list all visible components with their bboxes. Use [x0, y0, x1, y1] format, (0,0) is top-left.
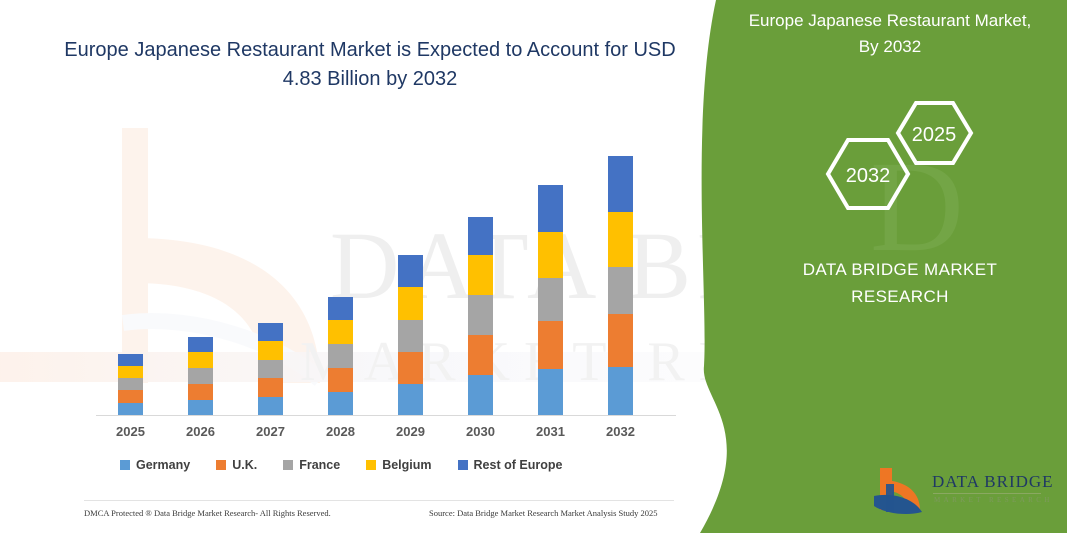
chart-legend: GermanyU.K.FranceBelgiumRest of Europe [120, 455, 680, 475]
bar-segment [328, 368, 353, 392]
bar-segment [258, 341, 283, 360]
hexagon-2032-label: 2032 [846, 165, 891, 187]
bar-segment [328, 320, 353, 344]
footer-divider [84, 500, 674, 501]
bar-segment [608, 212, 633, 267]
legend-swatch-icon [216, 460, 226, 470]
bar-segment [538, 185, 563, 232]
bar-segment [118, 378, 143, 390]
bar-segment [398, 352, 423, 384]
legend-item: Germany [120, 458, 190, 472]
bar-segment [188, 384, 213, 400]
x-label-2025: 2025 [101, 424, 161, 439]
bar-segment [188, 337, 213, 352]
logo-wordmark: DATA BRIDGE [932, 472, 1054, 492]
bar-segment [188, 368, 213, 384]
hexagon-group: 2025 2032 [820, 100, 1000, 215]
bar-segment [328, 392, 353, 416]
footer: DMCA Protected ® Data Bridge Market Rese… [84, 508, 684, 522]
bar-2028 [328, 297, 353, 416]
bar-segment [608, 367, 633, 416]
legend-label: Germany [136, 458, 190, 472]
bar-2030 [468, 217, 493, 416]
hexagon-2025-label: 2025 [912, 124, 957, 146]
legend-swatch-icon [366, 460, 376, 470]
bar-segment [258, 378, 283, 397]
stacked-bar-chart [96, 118, 676, 416]
bar-2031 [538, 185, 563, 416]
logo-mark-icon [872, 466, 928, 518]
bar-2027 [258, 323, 283, 416]
legend-item: Rest of Europe [458, 458, 563, 472]
legend-item: U.K. [216, 458, 257, 472]
bar-segment [398, 255, 423, 287]
bar-segment [328, 344, 353, 368]
x-label-2031: 2031 [521, 424, 581, 439]
legend-swatch-icon [458, 460, 468, 470]
bar-segment [468, 375, 493, 416]
x-axis-labels: 20252026202720282029203020312032 [96, 424, 676, 444]
bar-segment [608, 156, 633, 212]
bar-segment [188, 352, 213, 368]
bar-segment [468, 217, 493, 255]
legend-item: France [283, 458, 340, 472]
bar-segment [468, 295, 493, 335]
bar-segment [608, 267, 633, 314]
logo-divider [933, 493, 1041, 494]
footer-source: Source: Data Bridge Market Research Mark… [429, 508, 658, 518]
legend-label: U.K. [232, 458, 257, 472]
bar-segment [468, 255, 493, 295]
bar-segment [118, 354, 143, 366]
x-axis-line [96, 415, 676, 416]
data-bridge-logo: DATA BRIDGE MARKET RESEARCH [872, 466, 1047, 522]
bar-segment [398, 320, 423, 352]
legend-label: Rest of Europe [474, 458, 563, 472]
x-label-2027: 2027 [241, 424, 301, 439]
legend-label: France [299, 458, 340, 472]
x-label-2032: 2032 [591, 424, 651, 439]
bar-2026 [188, 337, 213, 416]
bar-2025 [118, 354, 143, 416]
x-label-2028: 2028 [311, 424, 371, 439]
legend-label: Belgium [382, 458, 431, 472]
bar-2029 [398, 255, 423, 416]
bar-segment [608, 314, 633, 367]
bar-segment [468, 335, 493, 375]
bar-segment [538, 321, 563, 369]
bar-segment [188, 400, 213, 416]
bar-segment [328, 297, 353, 320]
page-title: Europe Japanese Restaurant Market is Exp… [60, 36, 680, 94]
logo-tagline: MARKET RESEARCH [934, 496, 1053, 504]
bar-segment [538, 232, 563, 278]
x-label-2030: 2030 [451, 424, 511, 439]
legend-swatch-icon [120, 460, 130, 470]
footer-copyright: DMCA Protected ® Data Bridge Market Rese… [84, 508, 331, 518]
bar-segment [258, 397, 283, 416]
x-label-2026: 2026 [171, 424, 231, 439]
legend-item: Belgium [366, 458, 431, 472]
bar-segment [118, 390, 143, 403]
bar-segment [398, 384, 423, 416]
bar-segment [118, 366, 143, 378]
bar-segment [258, 360, 283, 378]
bar-segment [398, 287, 423, 320]
bar-segment [538, 278, 563, 321]
panel-brand: DATA BRIDGE MARKET RESEARCH [760, 256, 1040, 310]
bar-2032 [608, 156, 633, 416]
x-label-2029: 2029 [381, 424, 441, 439]
bar-segment [258, 323, 283, 341]
legend-swatch-icon [283, 460, 293, 470]
bar-segment [538, 369, 563, 416]
panel-heading: Europe Japanese Restaurant Market, By 20… [740, 8, 1040, 60]
